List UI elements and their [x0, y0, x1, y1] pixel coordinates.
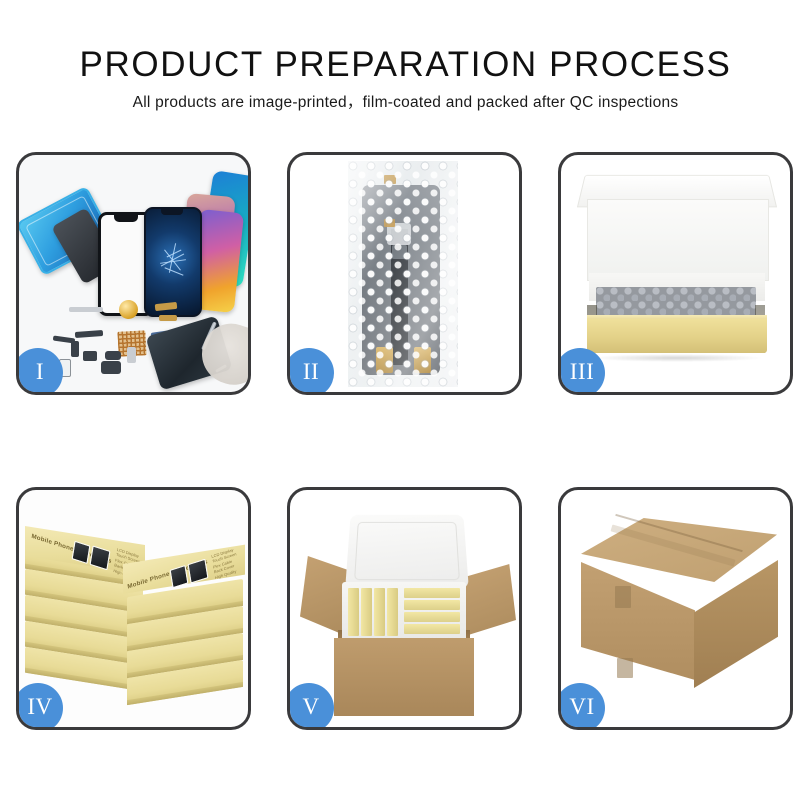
header: PRODUCT PREPARATION PROCESS All products…	[0, 44, 811, 114]
bag-sheen	[348, 161, 458, 387]
gold-box-v3	[374, 588, 385, 636]
camera-lens-part	[119, 300, 138, 319]
gold-box-h1	[404, 588, 460, 598]
gold-box-front	[587, 319, 767, 353]
flex-cable-part-2	[159, 315, 177, 321]
step-badge-2: II	[287, 348, 334, 395]
button-part	[105, 351, 121, 360]
foam-lid	[345, 515, 469, 589]
step-badge-6: VI	[558, 683, 605, 730]
page-title: PRODUCT PREPARATION PROCESS	[0, 44, 811, 86]
step-badge-5: V	[287, 683, 334, 730]
process-step-3: III	[558, 152, 793, 395]
step-badge-3: III	[558, 348, 605, 395]
process-step-grid: I II	[16, 152, 796, 730]
cracked-screen-phone	[144, 207, 202, 317]
bubble-wrap-bag	[348, 161, 458, 387]
carton-front-wall	[334, 638, 474, 716]
process-step-6: VI	[558, 487, 793, 730]
box-swatch-front-1	[170, 565, 189, 588]
gold-box-h2	[404, 600, 460, 610]
foam-box-base	[342, 582, 466, 644]
process-step-1: I	[16, 152, 251, 395]
process-step-2: II	[287, 152, 522, 395]
box-shadow	[591, 354, 763, 362]
connector-part-2	[83, 351, 97, 361]
box-swatch-front-2	[188, 559, 209, 584]
cable-part-2	[53, 335, 75, 343]
step-badge-1: I	[16, 348, 63, 395]
process-step-4: Mobile Phone Spare Parts LCD DisplayTouc…	[16, 487, 251, 730]
box-swatch-back-2	[90, 545, 111, 570]
gold-box-v2	[361, 588, 372, 636]
bracket-part	[69, 307, 103, 312]
process-step-5: V	[287, 487, 522, 730]
carton-tape-patch-1	[615, 586, 631, 608]
carton-left-face	[581, 562, 695, 680]
carton-tape-patch-2	[617, 658, 633, 678]
foam-liner-panel	[587, 199, 769, 281]
cable-part-1	[75, 330, 103, 338]
connector-part-1	[71, 341, 79, 357]
box-spec-lines-front: LCD DisplayTouch ScreenFlex CableBack Co…	[211, 546, 239, 580]
gold-box-h3	[404, 612, 460, 622]
gold-box-v1	[348, 588, 359, 636]
product-preparation-infographic: PRODUCT PREPARATION PROCESS All products…	[0, 0, 811, 811]
sim-tray-part	[127, 347, 136, 363]
step-badge-4: IV	[16, 683, 63, 730]
box-swatch-back-1	[72, 541, 91, 564]
gold-box-h4	[404, 624, 460, 634]
page-subtitle: All products are image-printed，film-coat…	[0, 92, 811, 114]
gold-box-v4	[387, 588, 398, 636]
speaker-part	[101, 361, 121, 374]
